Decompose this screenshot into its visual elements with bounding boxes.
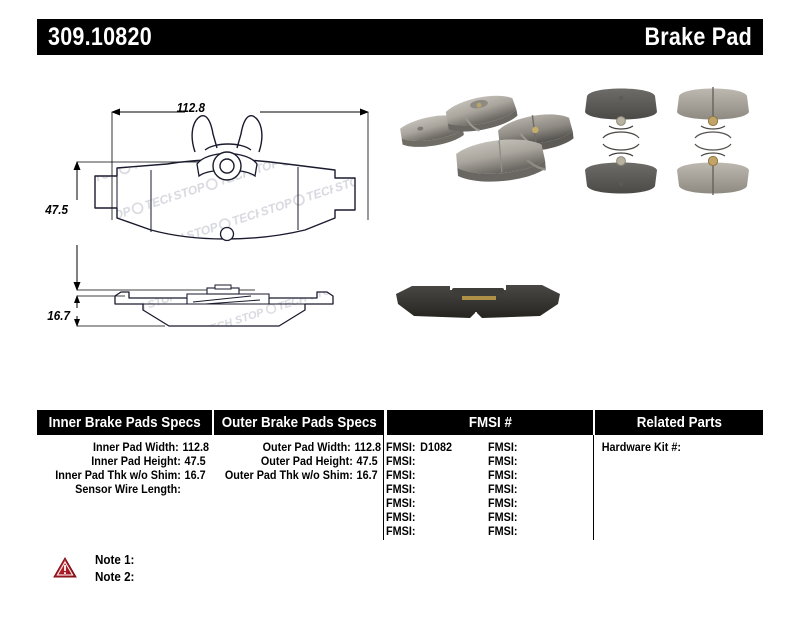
fmsi-label: FMSI: [488, 483, 517, 497]
spec-value: 16.7 [357, 469, 381, 483]
fmsi-label: FMSI: [488, 511, 517, 525]
fmsi-label: FMSI: [386, 511, 415, 525]
spec-label: Inner Pad Height: [91, 455, 180, 469]
spec-label: Inner Pad Width: [93, 441, 179, 455]
spec-value: 47.5 [185, 455, 209, 469]
part-number: 309.10820 [48, 25, 152, 50]
column-header-related-parts-label: Related Parts [637, 415, 722, 431]
spec-label: Outer Pad Width: [263, 441, 351, 455]
brake-pad-spec-sheet: 309.10820 Brake Pad STOP TECH [0, 0, 800, 619]
spec-row: Outer Pad Height: 47.5 [223, 455, 381, 469]
fmsi-label: FMSI: [386, 483, 415, 497]
fmsi-label: FMSI: [386, 525, 415, 539]
table-header-row: Inner Brake Pads Specs Outer Brake Pads … [37, 410, 763, 435]
column-divider-fmsi [383, 435, 384, 540]
fmsi-row: FMSI: [386, 525, 480, 539]
column-header-inner-specs: Inner Brake Pads Specs [37, 410, 212, 435]
spec-row: Inner Pad Width: 112.8 [47, 441, 209, 455]
fmsi-label: FMSI: [386, 497, 415, 511]
fmsi-row: FMSI: [488, 525, 582, 539]
column-header-fmsi-label: FMSI # [469, 415, 512, 431]
product-photo-flat-grid [575, 78, 760, 198]
fmsi-row: FMSI: [488, 497, 582, 511]
product-photo-angled-set [395, 80, 575, 190]
spec-row: Outer Pad Width: 112.8 [223, 441, 381, 455]
spec-row: Inner Pad Height: 47.5 [47, 455, 209, 469]
spec-label: Outer Pad Thk w/o Shim: [225, 469, 353, 483]
spec-value: 112.8 [183, 441, 209, 455]
fmsi-row: FMSI: [386, 455, 480, 469]
product-photo-edge-view [390, 272, 565, 334]
fmsi-row: FMSI: [488, 441, 582, 455]
column-header-related-parts: Related Parts [595, 410, 763, 435]
notes-section: Note 1: Note 2: [53, 552, 353, 592]
spec-row: Inner Pad Thk w/o Shim: 16.7 [47, 469, 209, 483]
note-line-2: Note 2: [95, 569, 134, 586]
product-type-title: Brake Pad [645, 25, 753, 50]
fmsi-row: FMSI: [386, 511, 480, 525]
warning-triangle-icon [53, 557, 77, 578]
fmsi-label: FMSI: [488, 455, 517, 469]
specification-table: Inner Brake Pads Specs Outer Brake Pads … [37, 410, 763, 540]
fmsi-row: FMSI: [386, 497, 480, 511]
fmsi-row: FMSI: [386, 469, 480, 483]
spec-value: 112.8 [355, 441, 381, 455]
fmsi-subcolumn-2: FMSI: FMSI: FMSI: FMSI: [488, 441, 588, 539]
fmsi-label: FMSI: [488, 469, 517, 483]
column-header-fmsi: FMSI # [387, 410, 593, 435]
header-bar: 309.10820 Brake Pad [37, 19, 763, 55]
column-header-outer-specs: Outer Brake Pads Specs [214, 410, 385, 435]
spec-value: 16.7 [185, 469, 209, 483]
spec-label: Sensor Wire Length: [75, 483, 181, 497]
related-part-row: Hardware Kit #: [597, 441, 752, 455]
spec-label: Outer Pad Height: [261, 455, 353, 469]
column-header-outer-specs-label: Outer Brake Pads Specs [221, 415, 376, 431]
fmsi-column: FMSI: D1082 FMSI: FMSI: FMSI: [386, 441, 591, 539]
fmsi-label: FMSI: [488, 441, 517, 455]
fmsi-label: FMSI: [386, 455, 415, 469]
fmsi-label: FMSI: [386, 441, 415, 455]
related-parts-column: Hardware Kit #: [597, 441, 762, 455]
fmsi-row: FMSI: [488, 455, 582, 469]
fmsi-row: FMSI: D1082 [386, 441, 480, 455]
outer-specs-column: Outer Pad Width: 112.8 Outer Pad Height:… [213, 441, 381, 483]
fmsi-label: FMSI: [488, 525, 517, 539]
spec-row: Outer Pad Thk w/o Shim: 16.7 [223, 469, 381, 483]
fmsi-row: FMSI: [488, 511, 582, 525]
dimension-height-label: 47.5 [45, 202, 68, 217]
note-lines: Note 1: Note 2: [95, 552, 137, 586]
fmsi-subcolumn-1: FMSI: D1082 FMSI: FMSI: FMSI: [386, 441, 486, 539]
fmsi-row: FMSI: [488, 469, 582, 483]
table-body: Inner Pad Width: 112.8 Inner Pad Height:… [37, 435, 763, 540]
fmsi-label: FMSI: [386, 469, 415, 483]
fmsi-value: D1082 [420, 441, 452, 455]
spec-value [185, 483, 209, 497]
fmsi-row: FMSI: [386, 483, 480, 497]
fmsi-label: FMSI: [488, 497, 517, 511]
dimension-width-label: 112.8 [177, 100, 205, 115]
note-line-1: Note 1: [95, 552, 134, 569]
column-header-inner-specs-label: Inner Brake Pads Specs [48, 415, 200, 431]
column-divider-related [593, 435, 594, 540]
spec-label: Inner Pad Thk w/o Shim: [55, 469, 181, 483]
spec-value: 47.5 [357, 455, 381, 469]
technical-drawing-side-view: STOP TECH [55, 278, 395, 348]
inner-specs-column: Inner Pad Width: 112.8 Inner Pad Height:… [37, 441, 209, 497]
related-part-label: Hardware Kit #: [602, 442, 681, 454]
fmsi-row: FMSI: [488, 483, 582, 497]
spec-row: Sensor Wire Length: [47, 483, 209, 497]
